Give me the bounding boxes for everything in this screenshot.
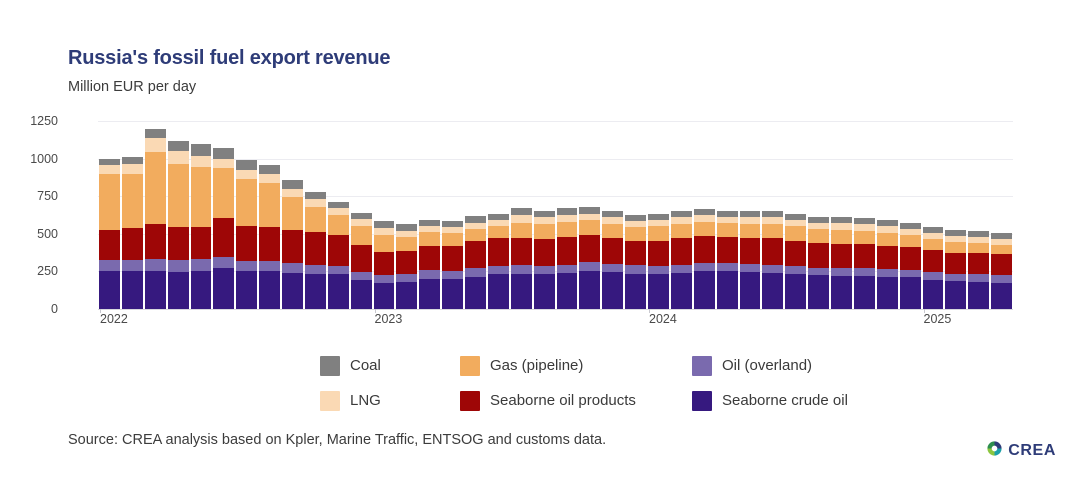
bar-segment <box>305 232 326 264</box>
bar-segment <box>762 217 783 224</box>
bar-segment <box>762 238 783 264</box>
bar-column[interactable] <box>877 121 898 309</box>
bar-segment <box>488 274 509 309</box>
bar-column[interactable] <box>694 121 715 309</box>
bar-segment <box>122 164 143 174</box>
bar-column[interactable] <box>900 121 921 309</box>
bar-segment <box>191 156 212 167</box>
bar-segment <box>854 231 875 245</box>
bar-segment <box>442 279 463 309</box>
bar-segment <box>168 227 189 260</box>
bar-column[interactable] <box>282 121 303 309</box>
bar-segment <box>145 138 166 152</box>
bar-segment <box>259 227 280 261</box>
bar-column[interactable] <box>968 121 989 309</box>
bar-segment <box>877 277 898 309</box>
bar-segment <box>900 270 921 278</box>
bar-segment <box>945 274 966 282</box>
bar-segment <box>579 207 600 214</box>
bar-segment <box>945 281 966 309</box>
x-axis-tick-label: 2022 <box>100 312 128 326</box>
brand-logo: CREA <box>986 440 1056 462</box>
bar-segment <box>557 265 578 273</box>
bar-segment <box>213 168 234 218</box>
bar-segment <box>717 263 738 271</box>
bar-segment <box>442 233 463 246</box>
bar-segment <box>991 283 1012 309</box>
source-note: Source: CREA analysis based on Kpler, Ma… <box>68 432 606 448</box>
brand-name: CREA <box>1008 442 1056 460</box>
bar-segment <box>625 274 646 309</box>
plot-area <box>98 121 1013 309</box>
bar-segment <box>900 277 921 309</box>
bar-segment <box>648 226 669 240</box>
legend-label: LNG <box>350 392 381 409</box>
bar-segment <box>374 221 395 228</box>
bar-segment <box>785 220 806 227</box>
bar-segment <box>534 211 555 218</box>
bar-segment <box>305 199 326 207</box>
legend-item-lng[interactable]: LNG <box>320 391 460 411</box>
bar-column[interactable] <box>923 121 944 309</box>
bar-segment <box>191 259 212 271</box>
bar-segment <box>945 253 966 274</box>
bar-segment <box>740 224 761 238</box>
bar-segment <box>991 245 1012 254</box>
bar-segment <box>259 183 280 227</box>
bar-column[interactable] <box>191 121 212 309</box>
bar-segment <box>396 282 417 309</box>
bar-segment <box>374 235 395 252</box>
bar-column[interactable] <box>465 121 486 309</box>
bar-segment <box>259 165 280 175</box>
legend-item-oil-overland[interactable]: Oil (overland) <box>692 356 842 376</box>
bar-segment <box>122 271 143 309</box>
bar-segment <box>808 268 829 276</box>
bar-segment <box>168 141 189 151</box>
bar-segment <box>282 180 303 188</box>
bar-segment <box>877 226 898 233</box>
bar-segment <box>534 239 555 266</box>
bar-segment <box>877 233 898 246</box>
legend-swatch-icon <box>460 356 480 376</box>
x-axis-tick-label: 2024 <box>649 312 677 326</box>
bar-segment <box>534 266 555 274</box>
bar-segment <box>191 271 212 309</box>
bar-segment <box>602 272 623 309</box>
bar-segment <box>213 159 234 168</box>
bar-segment <box>648 241 669 267</box>
bar-segment <box>923 280 944 309</box>
bar-segment <box>282 263 303 273</box>
bar-segment <box>968 274 989 282</box>
bar-segment <box>717 223 738 237</box>
bar-segment <box>511 223 532 238</box>
bar-segment <box>442 246 463 271</box>
bar-segment <box>465 216 486 223</box>
legend-item-gas-pipeline[interactable]: Gas (pipeline) <box>460 356 692 376</box>
bar-column[interactable] <box>785 121 806 309</box>
bar-segment <box>351 226 372 246</box>
legend-swatch-icon <box>320 391 340 411</box>
bar-column[interactable] <box>99 121 120 309</box>
bar-column[interactable] <box>534 121 555 309</box>
bar-segment <box>579 220 600 234</box>
legend-item-seaborne-oil-products[interactable]: Seaborne oil products <box>460 391 692 411</box>
x-axis-tick-label: 2023 <box>375 312 403 326</box>
bar-segment <box>168 260 189 272</box>
bar-column[interactable] <box>557 121 578 309</box>
bar-segment <box>602 217 623 224</box>
bar-segment <box>305 192 326 200</box>
bar-segment <box>968 243 989 253</box>
bar-segment <box>991 275 1012 283</box>
bar-segment <box>374 252 395 275</box>
bar-segment <box>396 224 417 231</box>
bar-segment <box>854 224 875 231</box>
bar-segment <box>488 226 509 237</box>
bar-segment <box>488 266 509 274</box>
bar-segment <box>213 148 234 159</box>
bar-segment <box>213 257 234 268</box>
bar-column[interactable] <box>488 121 509 309</box>
bar-column[interactable] <box>831 121 852 309</box>
bar-segment <box>282 189 303 197</box>
bar-segment <box>900 247 921 270</box>
bar-segment <box>923 272 944 280</box>
bar-segment <box>191 227 212 259</box>
bar-segment <box>945 242 966 253</box>
bar-segment <box>694 215 715 222</box>
bar-column[interactable] <box>671 121 692 309</box>
bar-segment <box>282 230 303 263</box>
bar-segment <box>854 244 875 268</box>
bar-segment <box>442 271 463 279</box>
bar-segment <box>579 271 600 309</box>
bar-segment <box>351 280 372 309</box>
bar-segment <box>282 197 303 230</box>
bar-segment <box>557 222 578 237</box>
bar-segment <box>168 151 189 164</box>
bar-segment <box>785 241 806 267</box>
bar-segment <box>511 274 532 309</box>
bar-segment <box>854 276 875 309</box>
bar-segment <box>579 235 600 263</box>
bar-column[interactable] <box>374 121 395 309</box>
bar-column[interactable] <box>168 121 189 309</box>
legend-item-coal[interactable]: Coal <box>320 356 460 376</box>
bar-segment <box>808 223 829 230</box>
bar-segment <box>122 174 143 228</box>
bar-segment <box>374 228 395 235</box>
bar-segment <box>191 167 212 227</box>
bar-segment <box>328 208 349 215</box>
bar-series-container <box>98 121 1013 309</box>
bar-segment <box>259 174 280 183</box>
bar-segment <box>419 279 440 309</box>
bar-segment <box>488 238 509 267</box>
bar-segment <box>625 241 646 266</box>
legend-label: Oil (overland) <box>722 357 812 374</box>
bar-segment <box>602 238 623 264</box>
bar-segment <box>717 237 738 263</box>
bar-segment <box>602 224 623 238</box>
bar-column[interactable] <box>305 121 326 309</box>
bar-segment <box>213 218 234 257</box>
bar-segment <box>305 265 326 274</box>
bar-segment <box>122 157 143 164</box>
y-axis-tick-label: 0 <box>0 302 58 316</box>
bar-column[interactable] <box>419 121 440 309</box>
bar-segment <box>351 272 372 280</box>
bar-segment <box>488 214 509 221</box>
y-axis-tick-label: 500 <box>0 227 58 241</box>
x-axis-line <box>98 309 1013 310</box>
bar-segment <box>145 271 166 309</box>
bar-segment <box>808 275 829 309</box>
bar-segment <box>145 152 166 224</box>
bar-segment <box>396 251 417 274</box>
legend-swatch-icon <box>692 356 712 376</box>
bar-column[interactable] <box>213 121 234 309</box>
bar-segment <box>717 217 738 224</box>
bar-segment <box>419 270 440 279</box>
bar-segment <box>831 276 852 309</box>
bar-segment <box>282 273 303 309</box>
bar-segment <box>579 214 600 221</box>
bar-segment <box>831 244 852 269</box>
bar-segment <box>168 164 189 227</box>
bar-segment <box>465 223 486 230</box>
bar-segment <box>99 271 120 309</box>
bar-column[interactable] <box>351 121 372 309</box>
bar-segment <box>236 261 257 272</box>
bar-segment <box>785 266 806 274</box>
bar-segment <box>145 259 166 271</box>
bar-segment <box>648 266 669 274</box>
bar-segment <box>968 253 989 275</box>
bar-segment <box>694 236 715 263</box>
crea-logo-icon <box>986 440 1003 462</box>
bar-column[interactable] <box>579 121 600 309</box>
bar-segment <box>671 217 692 224</box>
bar-column[interactable] <box>945 121 966 309</box>
bar-segment <box>694 271 715 309</box>
bar-column[interactable] <box>396 121 417 309</box>
bar-segment <box>785 274 806 309</box>
bar-column[interactable] <box>740 121 761 309</box>
y-axis-tick-label: 1250 <box>0 114 58 128</box>
bar-segment <box>99 230 120 260</box>
y-axis-tick-label: 250 <box>0 264 58 278</box>
page-title: Russia's fossil fuel export revenue <box>68 47 390 70</box>
bar-segment <box>557 208 578 215</box>
bar-segment <box>374 275 395 283</box>
bar-segment <box>694 263 715 271</box>
bar-segment <box>328 235 349 266</box>
bar-segment <box>122 260 143 271</box>
bar-segment <box>99 174 120 230</box>
bar-segment <box>877 269 898 277</box>
bar-segment <box>328 274 349 309</box>
bar-segment <box>419 232 440 246</box>
legend-swatch-icon <box>320 356 340 376</box>
legend-label: Coal <box>350 357 381 374</box>
bar-column[interactable] <box>854 121 875 309</box>
bar-segment <box>99 165 120 175</box>
bar-segment <box>465 241 486 268</box>
chart-page: Russia's fossil fuel export revenue Mill… <box>0 0 1080 483</box>
bar-column[interactable] <box>808 121 829 309</box>
bar-column[interactable] <box>442 121 463 309</box>
bar-segment <box>900 235 921 247</box>
bar-segment <box>923 239 944 250</box>
bar-segment <box>145 224 166 259</box>
bar-segment <box>808 243 829 268</box>
x-axis: 2022202320242025 <box>98 312 1013 334</box>
bar-column[interactable] <box>122 121 143 309</box>
bar-segment <box>968 282 989 309</box>
bar-segment <box>99 260 120 271</box>
bar-column[interactable] <box>991 121 1012 309</box>
bar-segment <box>762 273 783 309</box>
bar-segment <box>579 262 600 271</box>
bar-segment <box>236 226 257 261</box>
bar-segment <box>740 272 761 309</box>
bar-segment <box>648 220 669 227</box>
bar-segment <box>236 179 257 226</box>
legend-item-seaborne-crude-oil[interactable]: Seaborne crude oil <box>692 391 842 411</box>
legend-label: Gas (pipeline) <box>490 357 583 374</box>
bar-segment <box>511 238 532 265</box>
bar-column[interactable] <box>625 121 646 309</box>
bar-segment <box>557 273 578 309</box>
bar-column[interactable] <box>328 121 349 309</box>
bar-segment <box>740 238 761 264</box>
bar-segment <box>740 217 761 224</box>
legend-label: Seaborne crude oil <box>722 392 848 409</box>
bar-segment <box>511 265 532 274</box>
bar-segment <box>465 268 486 276</box>
bar-segment <box>671 224 692 238</box>
bar-column[interactable] <box>762 121 783 309</box>
bar-column[interactable] <box>236 121 257 309</box>
bar-segment <box>236 170 257 179</box>
bar-segment <box>785 226 806 240</box>
bar-segment <box>557 215 578 222</box>
bar-segment <box>740 264 761 272</box>
bar-column[interactable] <box>511 121 532 309</box>
bar-segment <box>762 265 783 273</box>
bar-segment <box>923 250 944 272</box>
bar-segment <box>534 274 555 309</box>
bar-segment <box>236 160 257 170</box>
bar-segment <box>648 274 669 309</box>
bar-segment <box>145 129 166 139</box>
bar-segment <box>831 223 852 230</box>
bar-segment <box>831 230 852 244</box>
bar-segment <box>465 229 486 241</box>
bar-segment <box>419 246 440 270</box>
bar-segment <box>831 268 852 276</box>
bar-segment <box>854 268 875 276</box>
bar-segment <box>625 227 646 241</box>
bar-segment <box>374 283 395 309</box>
bar-segment <box>168 272 189 309</box>
legend-label: Seaborne oil products <box>490 392 636 409</box>
bar-segment <box>259 271 280 309</box>
bar-segment <box>351 245 372 272</box>
bar-segment <box>191 144 212 156</box>
bar-segment <box>717 271 738 309</box>
bar-segment <box>351 219 372 226</box>
bar-column[interactable] <box>602 121 623 309</box>
bar-segment <box>213 268 234 309</box>
bar-segment <box>328 266 349 274</box>
bar-column[interactable] <box>717 121 738 309</box>
bar-segment <box>762 224 783 238</box>
x-axis-tick-label: 2025 <box>924 312 952 326</box>
bar-segment <box>602 264 623 272</box>
bar-segment <box>511 208 532 216</box>
y-axis-tick-label: 1000 <box>0 152 58 166</box>
bar-segment <box>328 202 349 209</box>
legend-swatch-icon <box>460 391 480 411</box>
bar-segment <box>305 207 326 233</box>
bar-segment <box>259 261 280 272</box>
bar-segment <box>122 228 143 260</box>
bar-column[interactable] <box>145 121 166 309</box>
bar-segment <box>236 271 257 309</box>
bar-segment <box>534 217 555 224</box>
bar-segment <box>534 224 555 239</box>
bar-segment <box>671 273 692 309</box>
bar-segment <box>671 238 692 264</box>
y-axis-tick-label: 750 <box>0 189 58 203</box>
bar-segment <box>625 265 646 273</box>
bar-segment <box>396 237 417 251</box>
bar-segment <box>511 215 532 223</box>
bar-segment <box>808 229 829 243</box>
bar-segment <box>694 222 715 236</box>
bar-column[interactable] <box>648 121 669 309</box>
bar-segment <box>557 237 578 265</box>
chart-subtitle: Million EUR per day <box>68 79 196 95</box>
bar-segment <box>328 215 349 235</box>
bar-column[interactable] <box>259 121 280 309</box>
bar-segment <box>991 254 1012 275</box>
bar-segment <box>396 274 417 282</box>
chart-legend: CoalGas (pipeline)Oil (overland)LNGSeabo… <box>320 348 840 418</box>
bar-segment <box>305 274 326 309</box>
legend-swatch-icon <box>692 391 712 411</box>
bar-segment <box>465 277 486 309</box>
bar-segment <box>671 265 692 273</box>
bar-segment <box>877 246 898 269</box>
